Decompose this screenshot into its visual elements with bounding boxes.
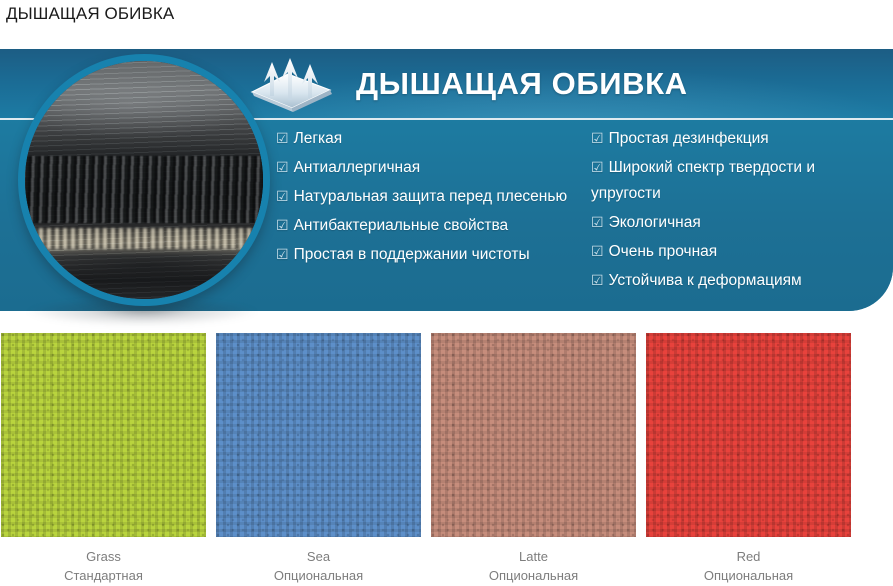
checkbox-checked-icon: ☑ <box>276 183 289 209</box>
swatch-name: Red <box>646 547 851 566</box>
checkbox-checked-icon: ☑ <box>591 125 604 151</box>
checkbox-checked-icon: ☑ <box>591 209 604 235</box>
feature-item: ☑Простая в поддержании чистоты <box>276 241 571 268</box>
swatch-name: Grass <box>1 547 206 566</box>
swatch-dot-texture <box>646 333 851 537</box>
feature-label: Устойчива к деформациям <box>609 272 802 289</box>
swatch-caption: Red Опциональная <box>646 537 851 585</box>
feature-label: Легкая <box>294 130 343 147</box>
checkbox-checked-icon: ☑ <box>591 238 604 264</box>
fabric-loop-layer <box>25 156 263 223</box>
feature-item: ☑Простая дезинфекция <box>591 125 889 152</box>
checkbox-checked-icon: ☑ <box>276 154 289 180</box>
swatch-tile[interactable] <box>216 333 421 537</box>
swatch-cell-red[interactable]: Red Опциональная <box>646 333 851 585</box>
swatch-tile[interactable] <box>431 333 636 537</box>
swatch-caption: Sea Опциональная <box>216 537 421 585</box>
panel-header-row: ДЫШАЩАЯ ОБИВКА <box>248 49 688 118</box>
swatch-availability: Стандартная <box>1 566 206 585</box>
feature-item: ☑Антиаллергичная <box>276 154 571 181</box>
swatch-gallery: Grass Стандартная Sea Опциональная Latte… <box>0 333 893 586</box>
swatch-dot-texture <box>216 333 421 537</box>
fabric-blur-top-layer <box>25 61 263 123</box>
checkbox-checked-icon: ☑ <box>591 267 604 293</box>
swatch-dot-texture <box>1 333 206 537</box>
checkbox-checked-icon: ☑ <box>591 154 604 180</box>
feature-item: ☑Широкий спектр твердости и упругости <box>591 154 889 207</box>
page-title: ДЫШАЩАЯ ОБИВКА <box>6 4 174 24</box>
swatch-caption: Grass Стандартная <box>1 537 206 585</box>
swatch-tile[interactable] <box>1 333 206 537</box>
checkbox-checked-icon: ☑ <box>276 241 289 267</box>
swatch-name: Latte <box>431 547 636 566</box>
swatch-tile[interactable] <box>646 333 851 537</box>
banner-heading: ДЫШАЩАЯ ОБИВКА <box>356 66 688 102</box>
swatch-dot-texture <box>431 333 636 537</box>
fabric-macro-photo <box>25 61 263 299</box>
fabric-speckle-layer <box>25 228 263 249</box>
feature-label: Натуральная защита перед плесенью <box>294 188 568 205</box>
feature-label: Антиаллергичная <box>294 159 421 176</box>
feature-item: ☑Экологичная <box>591 209 889 236</box>
feature-item: ☑Натуральная защита перед плесенью <box>276 183 571 210</box>
feature-label: Простая дезинфекция <box>609 130 769 147</box>
checkbox-checked-icon: ☑ <box>276 212 289 238</box>
features-left-column: ☑Легкая ☑Антиаллергичная ☑Натуральная за… <box>276 125 571 270</box>
swatch-cell-grass[interactable]: Grass Стандартная <box>1 333 206 585</box>
feature-label: Экологичная <box>609 214 701 231</box>
fabric-photo-ring <box>18 54 270 306</box>
feature-label: Антибактериальные свойства <box>294 217 509 234</box>
swatch-cell-sea[interactable]: Sea Опциональная <box>216 333 421 585</box>
swatch-name: Sea <box>216 547 421 566</box>
checkbox-checked-icon: ☑ <box>276 125 289 151</box>
swatch-caption: Latte Опциональная <box>431 537 636 585</box>
swatch-availability: Опциональная <box>431 566 636 585</box>
feature-item: ☑Легкая <box>276 125 571 152</box>
feature-label: Простая в поддержании чистоты <box>294 246 530 263</box>
swatch-availability: Опциональная <box>646 566 851 585</box>
feature-label: Очень прочная <box>609 243 718 260</box>
features-right-column: ☑Простая дезинфекция ☑Широкий спектр тве… <box>591 125 889 296</box>
feature-item: ☑Очень прочная <box>591 238 889 265</box>
feature-item: ☑Устойчива к деформациям <box>591 267 889 294</box>
swatch-cell-latte[interactable]: Latte Опциональная <box>431 333 636 585</box>
feature-item: ☑Антибактериальные свойства <box>276 212 571 239</box>
swatch-availability: Опциональная <box>216 566 421 585</box>
feature-label: Широкий спектр твердости и упругости <box>591 159 815 202</box>
